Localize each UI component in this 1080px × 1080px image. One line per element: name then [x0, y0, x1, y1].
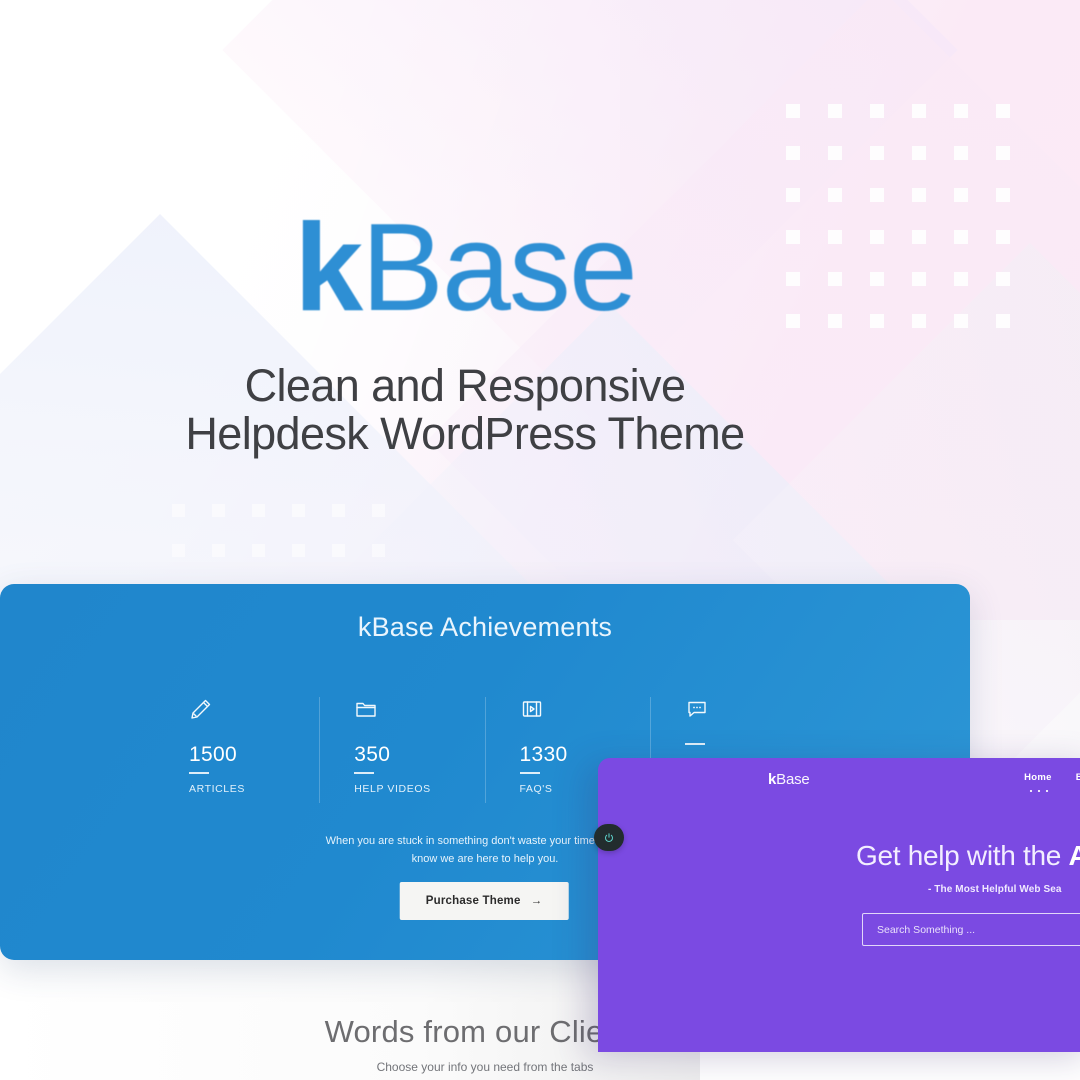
grid-dot	[332, 544, 345, 557]
grid-dot	[954, 230, 968, 244]
grid-dot	[786, 146, 800, 160]
grid-dot	[252, 544, 265, 557]
grid-dot	[954, 314, 968, 328]
power-icon-button[interactable]	[594, 824, 624, 851]
grid-dot	[870, 188, 884, 202]
grid-dot	[172, 544, 185, 557]
stat-rule	[189, 772, 209, 774]
grid-dot	[292, 504, 305, 517]
grid-dot	[212, 504, 225, 517]
mockup-hero-heading: Get help with the Adva	[856, 840, 1080, 872]
mockup-search-input[interactable]	[862, 913, 1080, 946]
browser-mockup-panel: kBase Home Blog Get help with the Adva -…	[598, 758, 1080, 1052]
stat-label: HELP VIDEOS	[354, 783, 474, 795]
hero-logo-base: Base	[361, 199, 636, 337]
testimonial-section: Words from our Clients Choose your info …	[0, 960, 700, 1080]
video-icon	[520, 697, 544, 721]
grid-dot	[996, 272, 1010, 286]
stat-rule	[685, 743, 705, 745]
grid-dot	[996, 230, 1010, 244]
grid-dot	[332, 504, 345, 517]
folder-icon	[354, 697, 378, 721]
grid-dot	[828, 104, 842, 118]
mockup-logo-k: k	[768, 771, 776, 788]
grid-dot	[954, 146, 968, 160]
grid-dot	[786, 188, 800, 202]
stat-value: 350	[354, 743, 474, 767]
grid-dot	[292, 544, 305, 557]
mockup-navbar: Home Blog	[1024, 772, 1080, 792]
grid-dot	[912, 146, 926, 160]
grid-dot	[870, 104, 884, 118]
stat-value: 1500	[189, 743, 309, 767]
hero-heading-line-1: Clean and Responsive	[245, 360, 686, 411]
mockup-logo-base: Base	[776, 771, 809, 788]
arrow-right-icon: →	[531, 895, 543, 907]
grid-dot	[996, 188, 1010, 202]
grid-dot	[996, 146, 1010, 160]
grid-dot	[372, 544, 385, 557]
comment-icon	[685, 697, 709, 721]
purchase-theme-label: Purchase Theme	[426, 895, 521, 907]
stat-label: ARTICLES	[189, 783, 309, 795]
hero-logo: kBase	[0, 206, 930, 330]
grid-dot	[996, 314, 1010, 328]
achievements-copy-line-2: know we are here to help you.	[412, 853, 559, 865]
grid-dot	[828, 146, 842, 160]
grid-dot	[870, 146, 884, 160]
grid-dot	[252, 504, 265, 517]
grid-dot	[954, 104, 968, 118]
mockup-logo: kBase	[768, 771, 810, 788]
grid-dot	[954, 188, 968, 202]
screenshot-stage: kBase Clean and Responsive Helpdesk Word…	[0, 0, 1080, 1080]
hero-heading-line-2: Helpdesk WordPress Theme	[185, 408, 744, 459]
achievements-title: kBase Achievements	[0, 612, 970, 643]
hero-heading: Clean and Responsive Helpdesk WordPress …	[0, 362, 930, 458]
stat-item-articles: 1500 ARTICLES	[155, 697, 319, 803]
grid-dot	[172, 504, 185, 517]
mockup-hero-heading-light: Get help with the	[856, 840, 1069, 871]
purchase-theme-button[interactable]: Purchase Theme→	[400, 882, 569, 920]
grid-dot	[996, 104, 1010, 118]
testimonial-subtitle: Choose your info you need from the tabs	[0, 1060, 970, 1074]
grid-dot	[912, 188, 926, 202]
hero-logo-k: k	[294, 199, 361, 337]
stat-rule	[354, 772, 374, 774]
stat-rule	[520, 772, 540, 774]
grid-dot	[954, 272, 968, 286]
grid-dot	[912, 104, 926, 118]
nav-item-home[interactable]: Home	[1024, 772, 1052, 792]
pencil-icon	[189, 697, 213, 721]
grid-dot	[786, 104, 800, 118]
nav-item-blog[interactable]: Blog	[1076, 772, 1080, 792]
power-icon	[603, 832, 615, 844]
grid-dot	[212, 544, 225, 557]
grid-dot	[828, 188, 842, 202]
mockup-hero-heading-bold: Adva	[1069, 840, 1080, 871]
grid-dot	[372, 504, 385, 517]
stat-item-help-videos: 350 HELP VIDEOS	[319, 697, 484, 803]
mockup-hero-subtitle: - The Most Helpful Web Sea	[928, 884, 1062, 895]
